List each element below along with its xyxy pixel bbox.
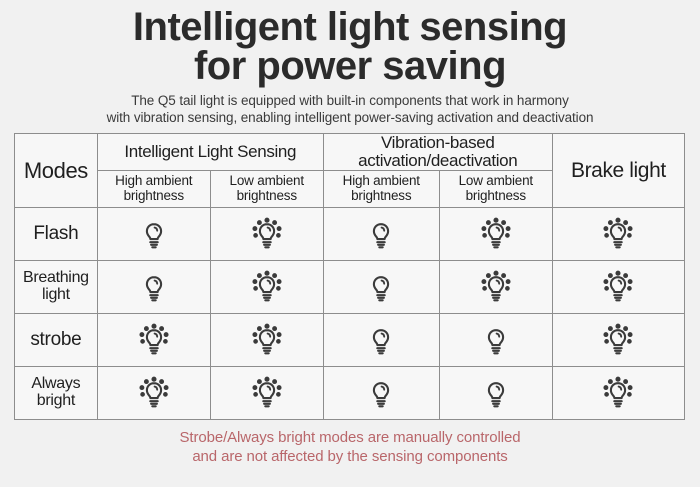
row-label-line-1: Always [15,376,97,393]
bulb-off-icon [440,323,552,357]
table-row: Alwaysbright [15,367,685,420]
row-label-line-1: Breathing [15,270,97,287]
page-title-line-2: for power saving [10,47,690,86]
subheader-light-high-ambient: High ambient brightness [97,171,210,208]
subheader-vibration-low-ambient: Low ambient brightness [439,171,552,208]
row-label-line-2: light [15,287,97,304]
cell-bulb-on-icon [552,208,684,261]
subheader-line-2: brightness [440,189,552,204]
cell-bulb-on-icon [210,208,323,261]
bulb-on-icon [211,376,323,410]
cell-bulb-on-icon [210,367,323,420]
bulb-off-icon [98,270,210,304]
footnote-line-1: Strobe/Always bright modes are manually … [0,429,700,448]
bulb-off-icon [324,323,439,357]
cell-bulb-off-icon [323,208,439,261]
table-row: Breathinglight [15,261,685,314]
header-group-light-sensing: Intelligent Light Sensing [97,134,323,171]
cell-bulb-on-icon [552,261,684,314]
cell-bulb-on-icon [210,314,323,367]
bulb-off-icon [324,376,439,410]
bulb-on-icon [553,217,684,251]
header-modes: Modes [15,134,98,208]
header-group-vibration-line-2: activation/deactivation [324,152,552,170]
cell-bulb-off-icon [323,314,439,367]
cell-bulb-off-icon [323,261,439,314]
bulb-on-icon [211,323,323,357]
cell-bulb-on-icon [439,261,552,314]
row-label-always: Alwaysbright [15,367,98,420]
cell-bulb-on-icon [97,314,210,367]
subheader-line-1: Low ambient [440,174,552,189]
bulb-off-icon [324,270,439,304]
page-title-line-1: Intelligent light sensing [10,8,690,47]
subheader-light-low-ambient: Low ambient brightness [210,171,323,208]
bulb-on-icon [98,323,210,357]
table-head: Modes Intelligent Light Sensing Vibratio… [15,134,685,208]
cell-bulb-off-icon [97,208,210,261]
page-title: Intelligent light sensing for power savi… [10,8,690,86]
row-label-line-1: strobe [15,330,97,350]
subheader-line-1: High ambient [324,174,439,189]
bulb-off-icon [98,217,210,251]
footnote-line-2: and are not affected by the sensing comp… [0,448,700,467]
bulb-on-icon [211,217,323,251]
subheader-vibration-high-ambient: High ambient brightness [323,171,439,208]
page-header: Intelligent light sensing for power savi… [0,0,700,126]
cell-bulb-off-icon [439,367,552,420]
subheader-line-1: High ambient [98,174,210,189]
page-subtitle: The Q5 tail light is equipped with built… [10,93,690,126]
bulb-on-icon [440,217,552,251]
header-brake-light: Brake light [552,134,684,208]
bulb-on-icon [98,376,210,410]
table-row: Flash [15,208,685,261]
page-subtitle-line-1: The Q5 tail light is equipped with built… [10,93,690,109]
row-label-line-2: bright [15,393,97,410]
modes-comparison-table: Modes Intelligent Light Sensing Vibratio… [14,133,685,420]
bulb-on-icon [553,270,684,304]
cell-bulb-on-icon [439,208,552,261]
cell-bulb-off-icon [323,367,439,420]
bulb-off-icon [324,217,439,251]
bulb-off-icon [440,376,552,410]
cell-bulb-on-icon [97,367,210,420]
page-subtitle-line-2: with vibration sensing, enabling intelli… [10,110,690,126]
footnote: Strobe/Always bright modes are manually … [0,429,700,467]
cell-bulb-on-icon [552,314,684,367]
cell-bulb-on-icon [210,261,323,314]
bulb-on-icon [553,376,684,410]
subheader-line-1: Low ambient [211,174,323,189]
row-label-breathing: Breathinglight [15,261,98,314]
row-label-flash: Flash [15,208,98,261]
table-header-row-groups: Modes Intelligent Light Sensing Vibratio… [15,134,685,171]
cell-bulb-off-icon [97,261,210,314]
subheader-line-2: brightness [98,189,210,204]
table-row: strobe [15,314,685,367]
bulb-on-icon [211,270,323,304]
subheader-line-2: brightness [324,189,439,204]
subheader-line-2: brightness [211,189,323,204]
modes-table-container: Modes Intelligent Light Sensing Vibratio… [14,133,685,420]
row-label-strobe: strobe [15,314,98,367]
bulb-on-icon [553,323,684,357]
cell-bulb-off-icon [439,314,552,367]
row-label-line-1: Flash [15,224,97,244]
table-body: Flash [15,208,685,420]
bulb-on-icon [440,270,552,304]
header-group-vibration-line-1: Vibration-based [324,134,552,152]
cell-bulb-on-icon [552,367,684,420]
header-group-vibration: Vibration-based activation/deactivation [323,134,552,171]
